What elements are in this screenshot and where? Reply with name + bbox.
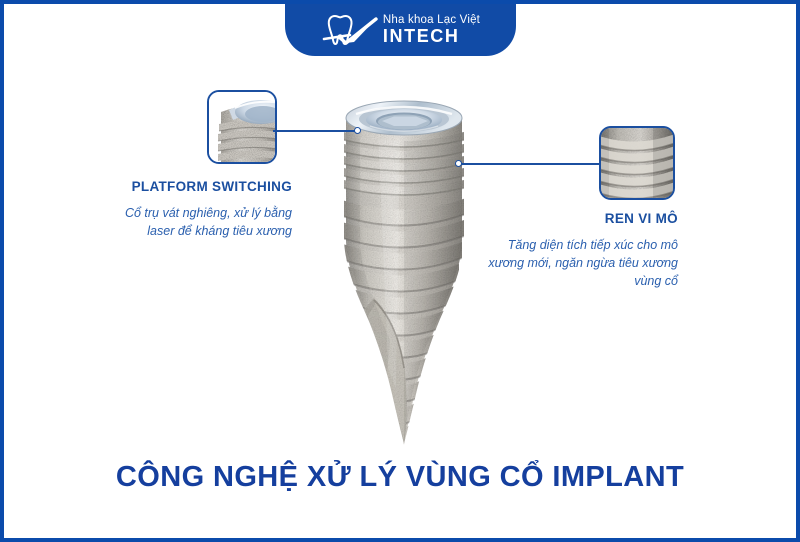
callout-title-platform-switching: PLATFORM SWITCHING [100, 180, 292, 195]
callout-label-platform-switching: PLATFORM SWITCHING Cổ trụ vát nghiêng, x… [100, 180, 292, 240]
callout-label-ren-vi-mo: REN VI MÔ Tăng diện tích tiếp xúc cho mô… [482, 212, 678, 290]
leader-line-left [273, 130, 359, 132]
leader-dot-left [354, 127, 361, 134]
callout-description-ren-vi-mo: Tăng diện tích tiếp xúc cho mô xương mới… [482, 236, 678, 290]
brand-wordmark: Nha khoa Lạc Việt INTECH [383, 15, 480, 46]
implant-neck-closeup-image [209, 92, 275, 162]
dental-implant-illustration [304, 88, 504, 448]
brand-line-1: Nha khoa Lạc Việt [383, 15, 480, 27]
brand-logo: Nha khoa Lạc Việt INTECH [321, 10, 480, 50]
page-title: CÔNG NGHỆ XỬ LÝ VÙNG CỔ IMPLANT [4, 462, 796, 494]
leader-dot-right [455, 160, 462, 167]
tooth-check-logo-icon [321, 10, 379, 50]
brand-line-2: INTECH [383, 27, 460, 45]
micro-thread-closeup-image [601, 128, 673, 198]
infographic-canvas: Nha khoa Lạc Việt INTECH [0, 0, 800, 542]
leader-line-right [459, 163, 600, 165]
callout-zoom-ren-vi-mo [599, 126, 675, 200]
callout-description-platform-switching: Cổ trụ vát nghiêng, xử lý bằng laser để … [100, 204, 292, 240]
callout-zoom-platform-switching [207, 90, 277, 164]
brand-banner: Nha khoa Lạc Việt INTECH [285, 0, 516, 56]
callout-title-ren-vi-mo: REN VI MÔ [482, 212, 678, 227]
